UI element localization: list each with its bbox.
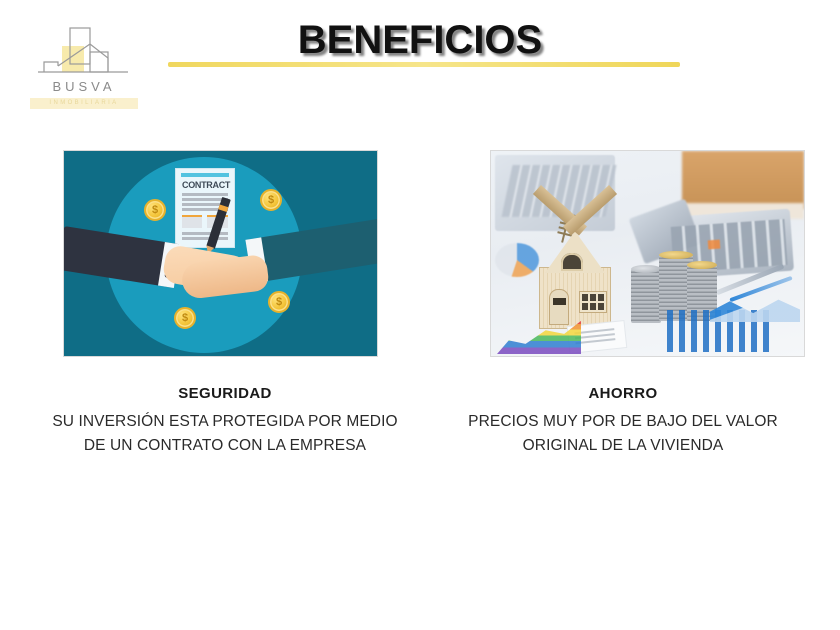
benefit-card-seguridad: CONTRACT bbox=[45, 150, 405, 458]
house-door-panel bbox=[553, 298, 566, 305]
wooden-house-model bbox=[525, 217, 625, 329]
dollar-coin-icon: $ bbox=[174, 307, 196, 329]
benefit-heading: SEGURIDAD bbox=[45, 385, 405, 402]
logo-tagline: INMOBILIARIA bbox=[30, 98, 138, 109]
benefit-heading: AHORRO bbox=[443, 385, 803, 402]
benefit-body: PRECIOS MUY POR DE BAJO DEL VALOR ORIGIN… bbox=[443, 410, 803, 458]
page-title: BENEFICIOS bbox=[0, 18, 840, 63]
title-underline-rule bbox=[168, 62, 680, 67]
dollar-coin-icon: $ bbox=[260, 189, 282, 211]
document-title: CONTRACT bbox=[182, 180, 230, 190]
logo-wordmark: BUSVA bbox=[24, 79, 144, 94]
benefit-image-ahorro bbox=[490, 150, 805, 357]
benefit-image-seguridad: CONTRACT bbox=[63, 150, 378, 357]
dollar-coin-icon: $ bbox=[144, 199, 166, 221]
document-header-bar bbox=[181, 173, 229, 177]
house-attic-window bbox=[561, 253, 583, 271]
house-window bbox=[579, 291, 607, 313]
wood-panel bbox=[682, 151, 804, 209]
document-text-line bbox=[182, 232, 228, 235]
benefit-body: SU INVERSIÓN ESTA PROTEGIDA POR MEDIO DE… bbox=[45, 410, 405, 458]
benefit-caption-seguridad: SEGURIDAD SU INVERSIÓN ESTA PROTEGIDA PO… bbox=[45, 385, 405, 458]
benefit-card-ahorro: AHORRO PRECIOS MUY POR DE BAJO DEL VALOR… bbox=[443, 150, 803, 458]
document-text-line bbox=[182, 237, 228, 240]
pen-band bbox=[218, 204, 228, 212]
dollar-coin-icon: $ bbox=[268, 291, 290, 313]
document-text-line bbox=[182, 203, 222, 206]
house-door bbox=[549, 289, 569, 325]
document-field-box bbox=[182, 215, 202, 228]
document-text-line bbox=[182, 193, 228, 196]
benefit-caption-ahorro: AHORRO PRECIOS MUY POR DE BAJO DEL VALOR… bbox=[443, 385, 803, 458]
coin-stack bbox=[631, 269, 661, 323]
calculator-orange-key bbox=[708, 240, 721, 250]
slide: BUSVA INMOBILIARIA BENEFICIOS CONTRACT bbox=[0, 0, 840, 630]
